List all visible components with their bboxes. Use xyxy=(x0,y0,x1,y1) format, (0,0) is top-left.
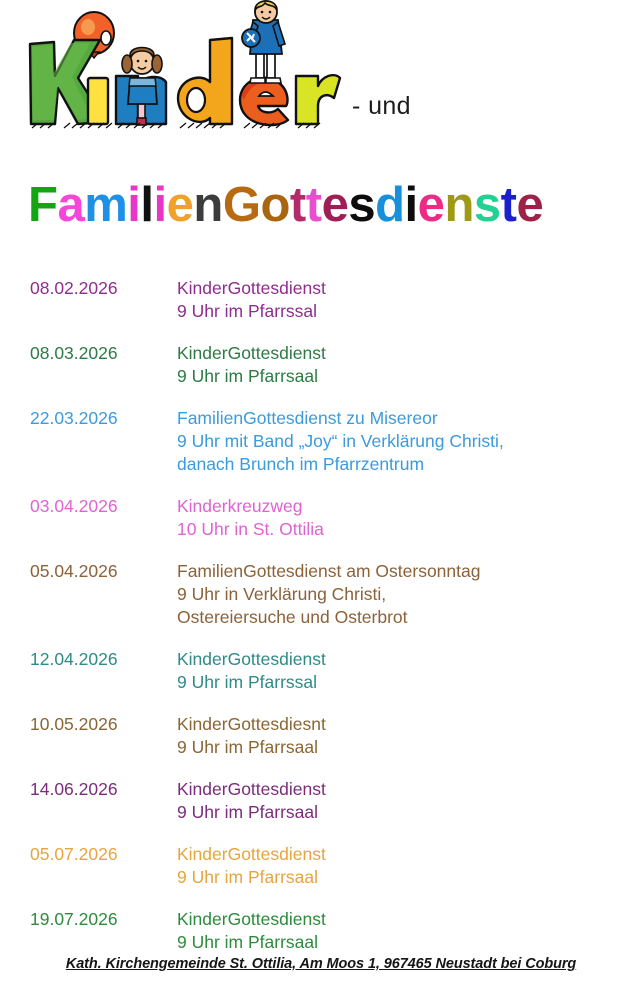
event-detail: KinderGottesdienst9 Uhr im Pfarrsaal xyxy=(177,778,642,824)
event-title: KinderGottesdienst xyxy=(177,277,642,300)
parish-address: Kath. Kirchengemeinde St. Ottilia, Am Mo… xyxy=(66,956,576,972)
event-date: 19.07.2026 xyxy=(0,908,177,931)
kinder-logo xyxy=(18,0,348,150)
schedule-row: 05.04.2026FamilienGottesdienst am Osters… xyxy=(0,560,642,629)
event-title: FamilienGottesdienst am Ostersonntag xyxy=(177,560,642,583)
schedule-row: 08.03.2026KinderGottesdienst9 Uhr im Pfa… xyxy=(0,342,642,388)
event-info-line: 9 Uhr im Pfarrsaal xyxy=(177,801,642,824)
event-detail: KinderGottesdienst9 Uhr im Pfarrssal xyxy=(177,648,642,694)
title-letter: i xyxy=(127,178,140,232)
event-info-line: Ostereiersuche und Osterbrot xyxy=(177,606,642,629)
page-title: FamilienGottesdienste xyxy=(28,176,543,234)
event-info-line: 9 Uhr im Pfarrssal xyxy=(177,300,642,323)
title-letter: t xyxy=(306,178,322,232)
title-letter: e xyxy=(418,178,445,232)
event-date: 14.06.2026 xyxy=(0,778,177,801)
title-letter: d xyxy=(375,178,404,232)
event-detail: KinderGottesdiesnt9 Uhr im Pfarrsaal xyxy=(177,713,642,759)
schedule-list: 08.02.2026KinderGottesdienst9 Uhr im Pfa… xyxy=(0,277,642,973)
title-letter: F xyxy=(28,178,57,232)
title-letter: s xyxy=(474,178,501,232)
title-letter: t xyxy=(290,178,306,232)
event-info-line: 9 Uhr im Pfarrsaal xyxy=(177,365,642,388)
event-info-line: 9 Uhr in Verklärung Christi, xyxy=(177,583,642,606)
title-letter: l xyxy=(140,178,153,232)
logo-letter-r xyxy=(296,75,340,124)
event-detail: Kinderkreuzweg10 Uhr in St. Ottilia xyxy=(177,495,642,541)
schedule-row: 05.07.2026KinderGottesdienst9 Uhr im Pfa… xyxy=(0,843,642,889)
title-letter: n xyxy=(444,178,473,232)
title-letter: e xyxy=(322,178,349,232)
event-date: 08.02.2026 xyxy=(0,277,177,300)
und-label: - und xyxy=(352,92,411,121)
title-letter: m xyxy=(84,178,127,232)
boy-figure-icon xyxy=(242,1,285,83)
event-date: 05.07.2026 xyxy=(0,843,177,866)
schedule-row: 03.04.2026Kinderkreuzweg10 Uhr in St. Ot… xyxy=(0,495,642,541)
event-date: 22.03.2026 xyxy=(0,407,177,430)
event-title: Kinderkreuzweg xyxy=(177,495,642,518)
schedule-row: 14.06.2026KinderGottesdienst9 Uhr im Pfa… xyxy=(0,778,642,824)
event-title: KinderGottesdienst xyxy=(177,908,642,931)
title-letter: e xyxy=(516,178,543,232)
header-logo-band: - und xyxy=(0,0,642,160)
event-title: KinderGottesdienst xyxy=(177,843,642,866)
event-info-line: 9 Uhr im Pfarrssal xyxy=(177,671,642,694)
event-date: 05.04.2026 xyxy=(0,560,177,583)
title-letter: n xyxy=(193,178,222,232)
event-info-line: 9 Uhr im Pfarrsaal xyxy=(177,866,642,889)
schedule-row: 10.05.2026KinderGottesdiesnt9 Uhr im Pfa… xyxy=(0,713,642,759)
title-letter: i xyxy=(154,178,167,232)
event-detail: KinderGottesdienst9 Uhr im Pfarrsaal xyxy=(177,843,642,889)
event-date: 10.05.2026 xyxy=(0,713,177,736)
event-title: KinderGottesdienst xyxy=(177,778,642,801)
event-title: FamilienGottesdienst zu Misereor xyxy=(177,407,642,430)
event-title: KinderGottesdiesnt xyxy=(177,713,642,736)
event-detail: KinderGottesdienst9 Uhr im Pfarrssal xyxy=(177,277,642,323)
event-title: KinderGottesdienst xyxy=(177,648,642,671)
event-info-line: 9 Uhr im Pfarrsaal xyxy=(177,736,642,759)
event-date: 08.03.2026 xyxy=(0,342,177,365)
event-detail: FamilienGottesdienst zu Misereor9 Uhr mi… xyxy=(177,407,642,476)
event-title: KinderGottesdienst xyxy=(177,342,642,365)
event-date: 03.04.2026 xyxy=(0,495,177,518)
schedule-row: 19.07.2026KinderGottesdienst9 Uhr im Pfa… xyxy=(0,908,642,954)
title-letter: t xyxy=(501,178,517,232)
schedule-row: 08.02.2026KinderGottesdienst9 Uhr im Pfa… xyxy=(0,277,642,323)
event-info-line: 9 Uhr mit Band „Joy“ in Verklärung Chris… xyxy=(177,430,642,453)
logo-letter-d xyxy=(178,38,232,124)
logo-letter-e xyxy=(240,78,288,125)
title-letter: G xyxy=(223,178,261,232)
event-info-line: 9 Uhr im Pfarrsaal xyxy=(177,931,642,954)
event-info-line: danach Brunch im Pfarrzentrum xyxy=(177,453,642,476)
event-detail: KinderGottesdienst9 Uhr im Pfarrsaal xyxy=(177,908,642,954)
schedule-row: 22.03.2026FamilienGottesdienst zu Misere… xyxy=(0,407,642,476)
title-letter: s xyxy=(348,178,375,232)
title-letter: e xyxy=(167,178,194,232)
logo-letter-i xyxy=(88,78,108,124)
footer: Kath. Kirchengemeinde St. Ottilia, Am Mo… xyxy=(0,955,642,973)
title-letter: a xyxy=(57,178,84,232)
title-letter: i xyxy=(405,178,418,232)
event-detail: KinderGottesdienst9 Uhr im Pfarrsaal xyxy=(177,342,642,388)
schedule-row: 12.04.2026KinderGottesdienst9 Uhr im Pfa… xyxy=(0,648,642,694)
title-letter: o xyxy=(260,178,289,232)
event-date: 12.04.2026 xyxy=(0,648,177,671)
event-detail: FamilienGottesdienst am Ostersonntag9 Uh… xyxy=(177,560,642,629)
event-info-line: 10 Uhr in St. Ottilia xyxy=(177,518,642,541)
